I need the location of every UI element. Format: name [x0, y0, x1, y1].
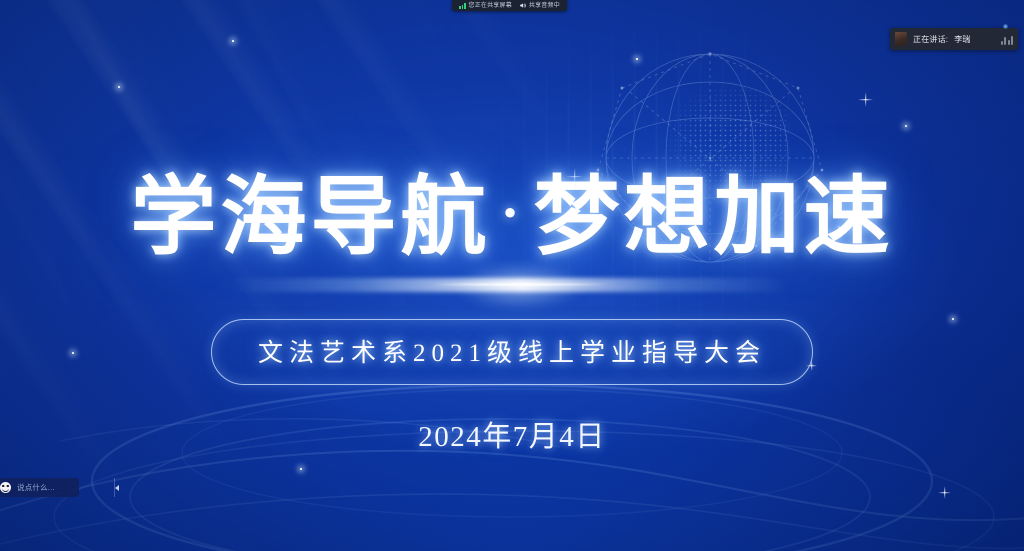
screen-share-status[interactable]: 您正在共享屏幕: [459, 3, 512, 9]
active-speaker-name: 李瑞: [954, 34, 970, 45]
signal-bars-icon: [459, 3, 466, 9]
presentation-slide-screenshare: 学海导航·梦想加速 文法艺术系2021级线上学业指导大会 2024年7月4日 您…: [0, 0, 1024, 551]
chevron-left-icon: [115, 485, 119, 491]
slide-title-part2: 梦想加速: [534, 169, 894, 265]
horizontal-light-streak-core: [430, 283, 610, 286]
audio-waveform-icon: [1001, 34, 1014, 45]
active-speaker-prefix: 正在讲话:: [913, 34, 948, 45]
slide-title-separator: ·: [490, 180, 533, 245]
screen-share-toolbar[interactable]: 您正在共享屏幕 共享音频中: [452, 0, 567, 11]
slide-subtitle: 文法艺术系2021级线上学业指导大会: [258, 340, 766, 367]
sparkle-particle: [952, 318, 954, 320]
sparkle-particle: [300, 468, 302, 470]
sparkle-star: [858, 92, 873, 107]
speaker-audio-icon: [519, 2, 526, 9]
sparkle-star: [938, 486, 951, 499]
sparkle-particle: [232, 40, 234, 42]
screen-share-label: 您正在共享屏幕: [469, 3, 512, 9]
sparkle-particle: [636, 58, 638, 60]
chat-collapse-button[interactable]: [114, 478, 119, 497]
chat-input[interactable]: [11, 478, 114, 497]
slide-subtitle-pill: 文法艺术系2021级线上学业指导大会: [211, 319, 813, 385]
audio-share-status[interactable]: 共享音频中: [519, 2, 560, 9]
speaker-glow-indicator: [1002, 24, 1009, 29]
slide-date: 2024年7月4日: [0, 413, 1024, 455]
participant-avatar: [895, 32, 907, 46]
slide-title-part1: 学海导航: [130, 169, 490, 265]
audio-share-label: 共享音频中: [529, 3, 560, 9]
active-speaker-overlay[interactable]: 正在讲话: 李瑞: [890, 28, 1018, 50]
sparkle-particle: [118, 86, 120, 88]
chat-bar[interactable]: [0, 478, 79, 497]
slide-title: 学海导航·梦想加速: [0, 172, 1024, 263]
smiley-emoji-icon: [0, 482, 11, 493]
emoji-picker-button[interactable]: [0, 478, 11, 497]
sparkle-particle: [72, 352, 74, 354]
